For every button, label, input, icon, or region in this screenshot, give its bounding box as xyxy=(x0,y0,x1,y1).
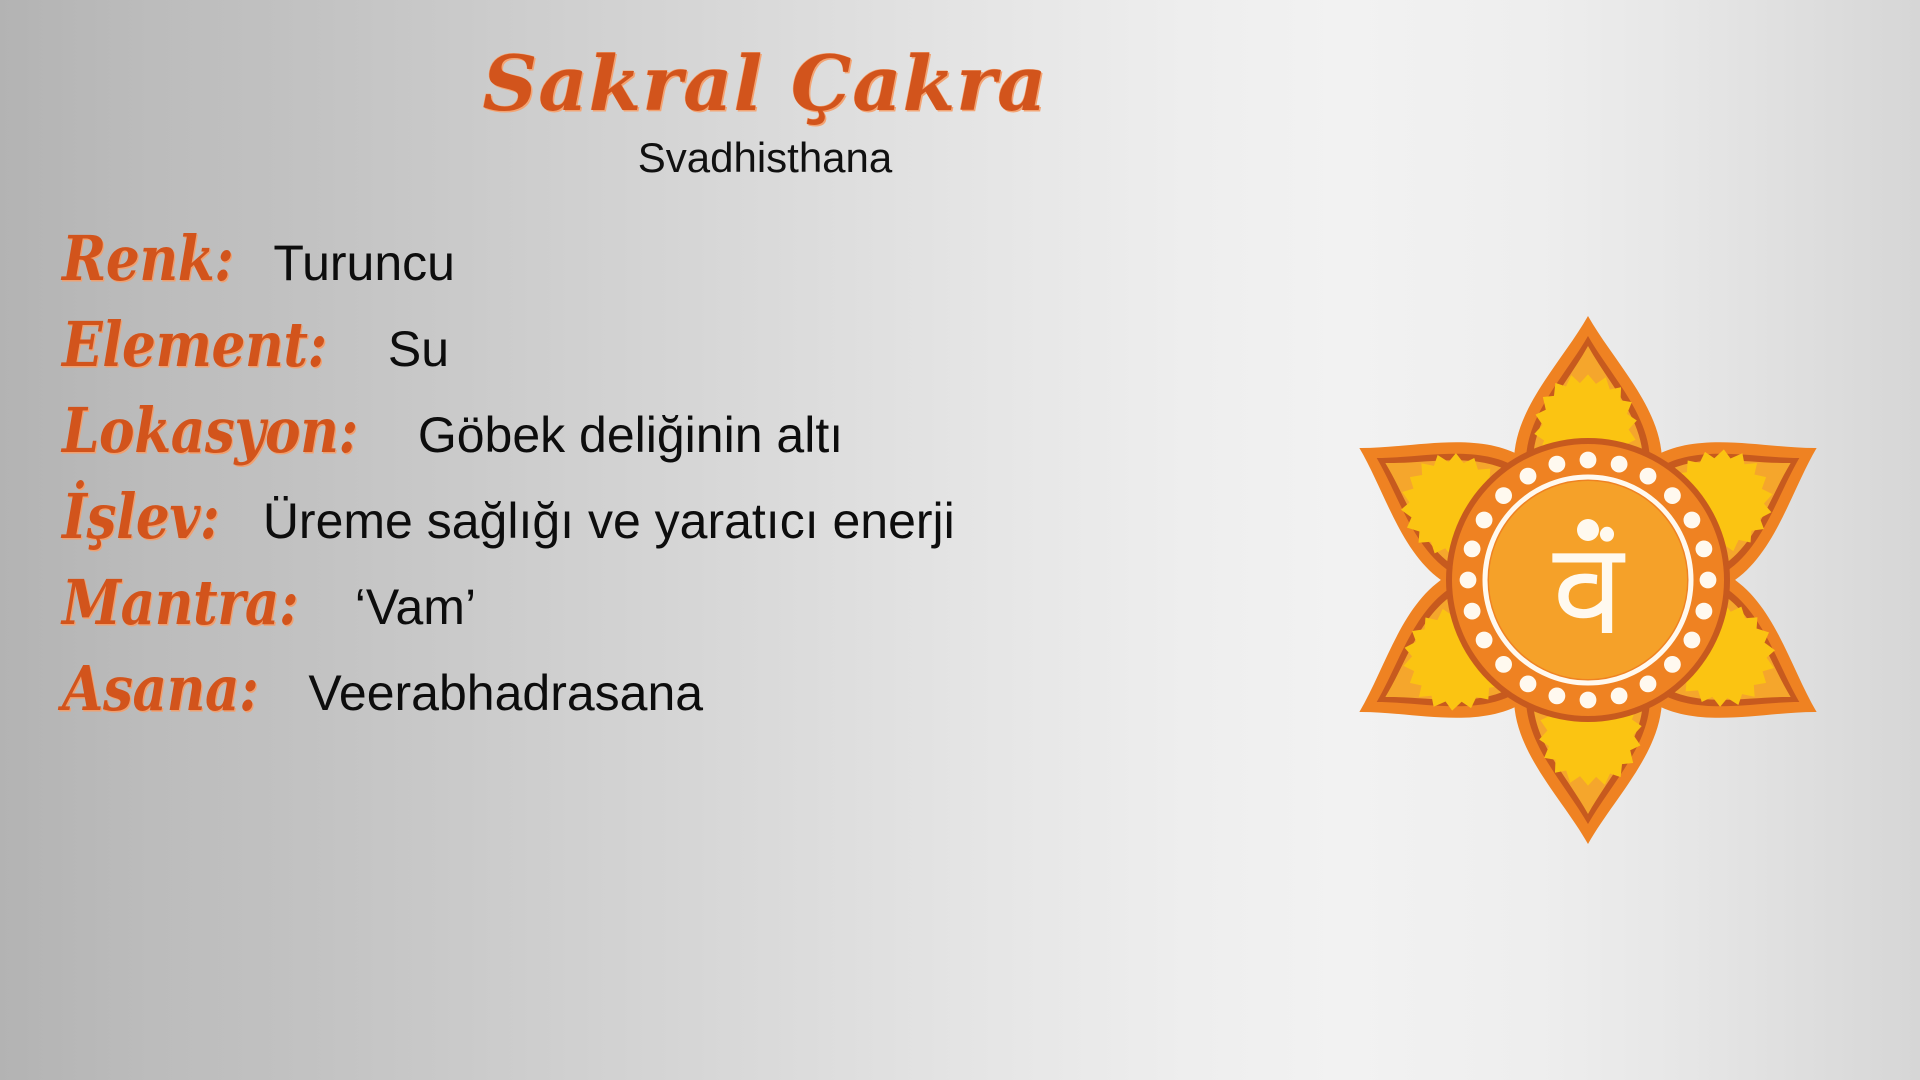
attribute-label-islev: İşlev: xyxy=(62,486,219,548)
attribute-label-element: Element: xyxy=(62,314,327,376)
header: Sakral Çakra Svadhisthana xyxy=(0,46,1530,182)
attribute-value-mantra: ‘Vam’ xyxy=(355,582,476,632)
attribute-label-asana: Asana: xyxy=(62,658,258,720)
list-item-mantra: Mantra: ‘Vam’ xyxy=(62,572,1142,634)
list-item-lokasyon: Lokasyon: Göbek deliğinin altı xyxy=(62,400,1142,462)
attribute-value-element: Su xyxy=(388,324,449,374)
page-subtitle: Svadhisthana xyxy=(0,134,1530,182)
seed-syllable-text: वं xyxy=(1552,515,1625,664)
list-item-renk: Renk: Turuncu xyxy=(62,228,1142,290)
slide-canvas: Sakral Çakra Svadhisthana Renk: Turuncu … xyxy=(0,0,1920,1080)
page-title: Sakral Çakra xyxy=(0,46,1530,122)
attribute-label-mantra: Mantra: xyxy=(62,572,298,634)
list-item-element: Element: Su xyxy=(62,314,1142,376)
list-item-asana: Asana: Veerabhadrasana xyxy=(62,658,1142,720)
attribute-label-lokasyon: Lokasyon: xyxy=(62,400,358,462)
svadhisthana-chakra-icon: वं xyxy=(1268,228,1908,868)
attribute-value-asana: Veerabhadrasana xyxy=(308,668,703,718)
lotus-center-medallion: वं xyxy=(1446,438,1730,722)
attribute-list: Renk: Turuncu Element: Su Lokasyon: Göbe… xyxy=(62,228,1142,744)
attribute-label-renk: Renk: xyxy=(62,228,233,290)
attribute-value-lokasyon: Göbek deliğinin altı xyxy=(418,410,843,460)
attribute-value-islev: Üreme sağlığı ve yaratıcı enerji xyxy=(263,496,955,546)
attribute-value-renk: Turuncu xyxy=(273,238,455,288)
list-item-islev: İşlev: Üreme sağlığı ve yaratıcı enerji xyxy=(62,486,1142,548)
